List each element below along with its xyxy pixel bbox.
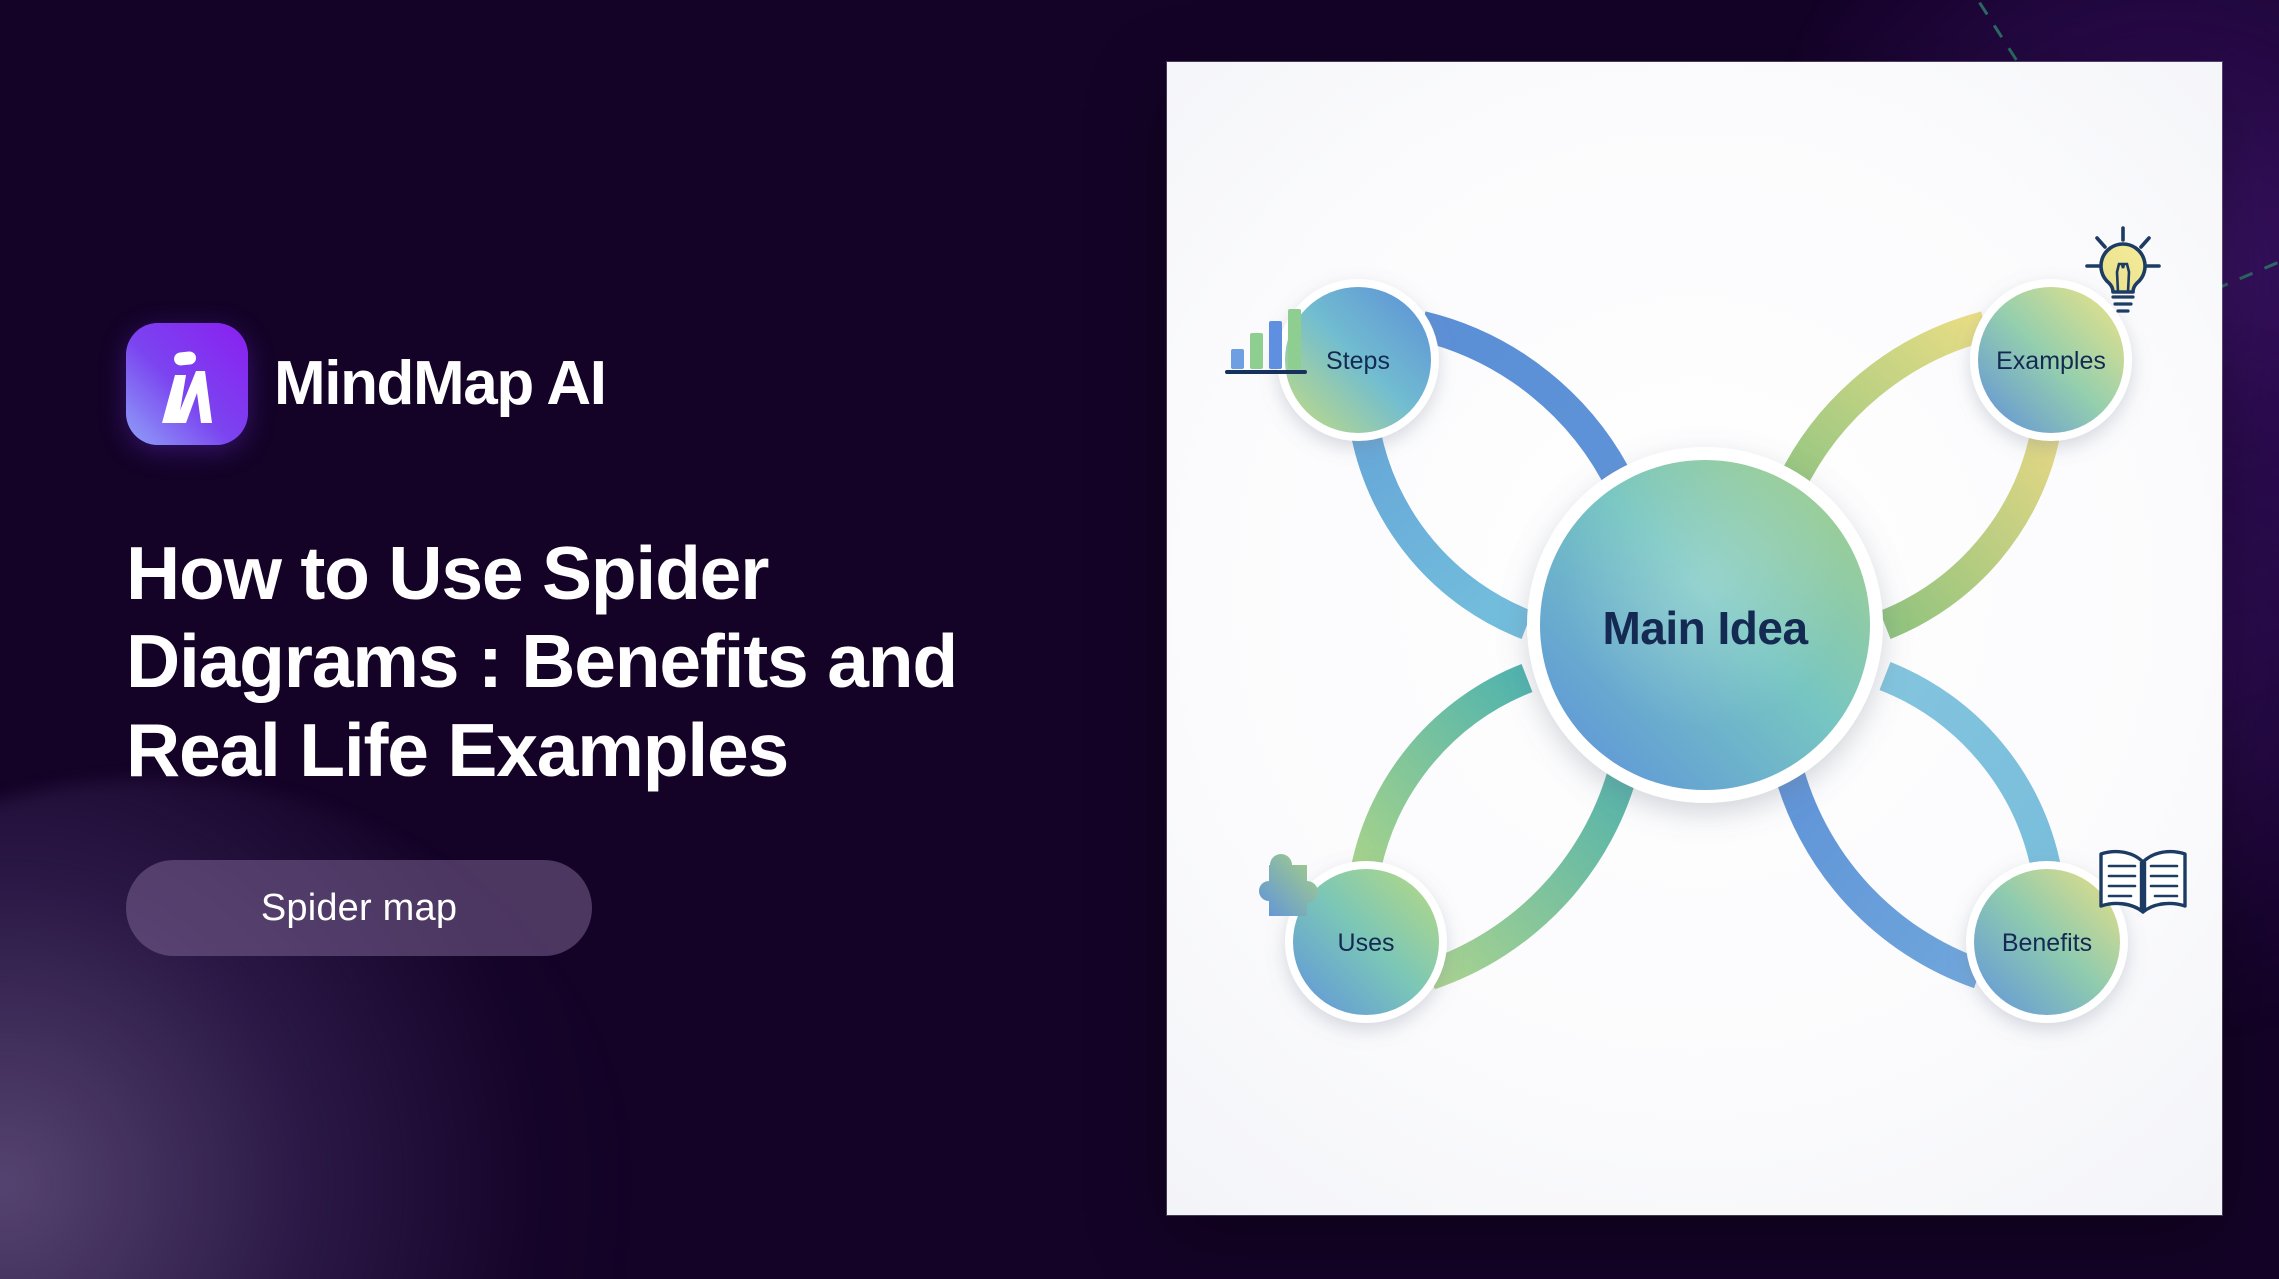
bar-chart-icon: [1225, 309, 1307, 374]
center-node-main-idea[interactable]: Main Idea: [1527, 447, 1883, 803]
brand-lockup: MindMap AI: [126, 323, 1106, 445]
spider-diagram-card: Steps Examples Uses Benefits Main Idea: [1167, 62, 2222, 1215]
connector-uses-upper: [1366, 678, 1527, 868]
connector-steps-upper: [1422, 326, 1622, 487]
page-title: How to Use Spider Diagrams : Benefits an…: [126, 529, 966, 795]
spider-map-tag-button[interactable]: Spider map: [126, 860, 592, 956]
steps-node-label: Steps: [1326, 347, 1390, 375]
connector-benefits-lower: [1787, 764, 1979, 974]
brand-name: MindMap AI: [274, 353, 606, 415]
center-node-label: Main Idea: [1602, 602, 1808, 654]
mindmap-m-logo-icon: [126, 323, 248, 445]
hero-left-column: MindMap AI How to Use Spider Diagrams : …: [126, 0, 1106, 1279]
connector-uses-lower: [1430, 764, 1625, 975]
connector-benefits-upper: [1885, 676, 2046, 868]
benefits-node-label: Benefits: [2002, 929, 2092, 957]
connector-examples-lower: [1885, 435, 2045, 625]
connector-examples-upper: [1790, 326, 1985, 487]
examples-node-label: Examples: [1996, 347, 2106, 375]
connector-steps-lower: [1366, 434, 1527, 625]
satellite-node-examples[interactable]: Examples: [1970, 279, 2132, 441]
open-book-icon: [2101, 852, 2185, 912]
logo-glyph: [126, 323, 248, 445]
spider-diagram: Steps Examples Uses Benefits Main Idea: [1167, 62, 2222, 1215]
uses-node-label: Uses: [1338, 929, 1395, 957]
satellite-node-steps[interactable]: Steps: [1277, 279, 1439, 441]
